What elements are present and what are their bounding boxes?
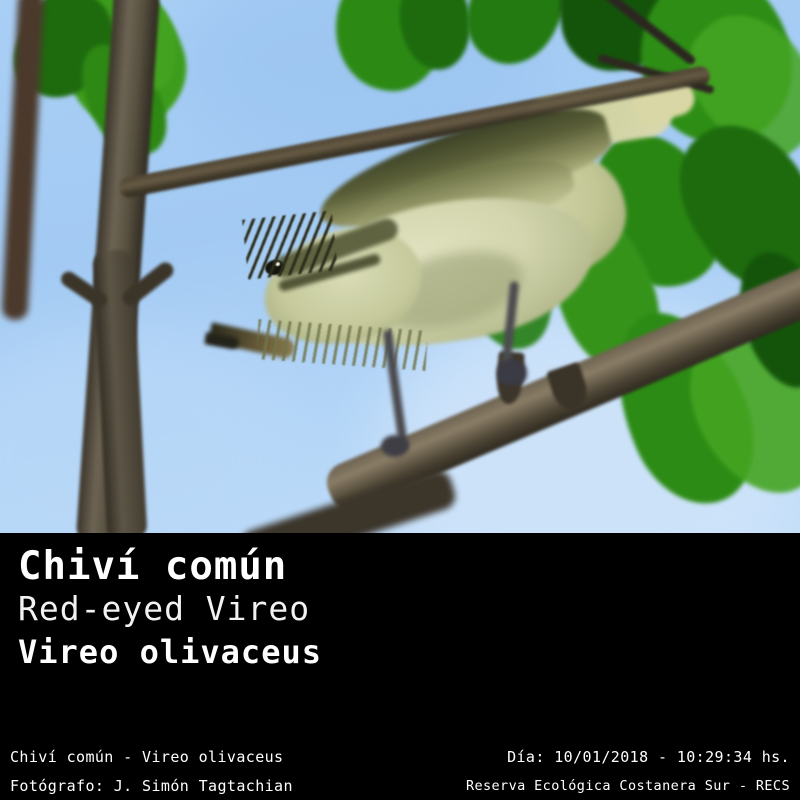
english-name: Red-eyed Vireo xyxy=(18,589,618,629)
bird-nape-feathers xyxy=(242,210,338,279)
bird-foot-front xyxy=(381,435,409,457)
footer-location-line: Reserva Ecológica Costanera Sur - RECS xyxy=(466,772,790,800)
footer-species-line: Chiví común - Vireo olivaceus xyxy=(10,743,293,772)
footer-photographer-line: Fotógrafo: J. Simón Tagtachian xyxy=(10,772,293,800)
footer-right: Día: 10/01/2018 - 10:29:34 hs. Reserva E… xyxy=(466,743,790,800)
photo-card: Chiví común Red-eyed Vireo Vireo olivace… xyxy=(0,0,800,800)
footer-left: Chiví común - Vireo olivaceus Fotógrafo:… xyxy=(10,743,293,800)
title-block: Chiví común Red-eyed Vireo Vireo olivace… xyxy=(18,545,618,672)
branch xyxy=(1,0,44,320)
footer-datetime-line: Día: 10/01/2018 - 10:29:34 hs. xyxy=(466,743,790,772)
bird-subject xyxy=(205,85,675,425)
bird-foot-rear xyxy=(497,359,527,385)
scientific-name: Vireo olivaceus xyxy=(18,632,618,672)
bird-photograph xyxy=(0,0,800,533)
info-bar: Chiví común Red-eyed Vireo Vireo olivace… xyxy=(0,533,800,800)
common-name: Chiví común xyxy=(18,545,618,589)
